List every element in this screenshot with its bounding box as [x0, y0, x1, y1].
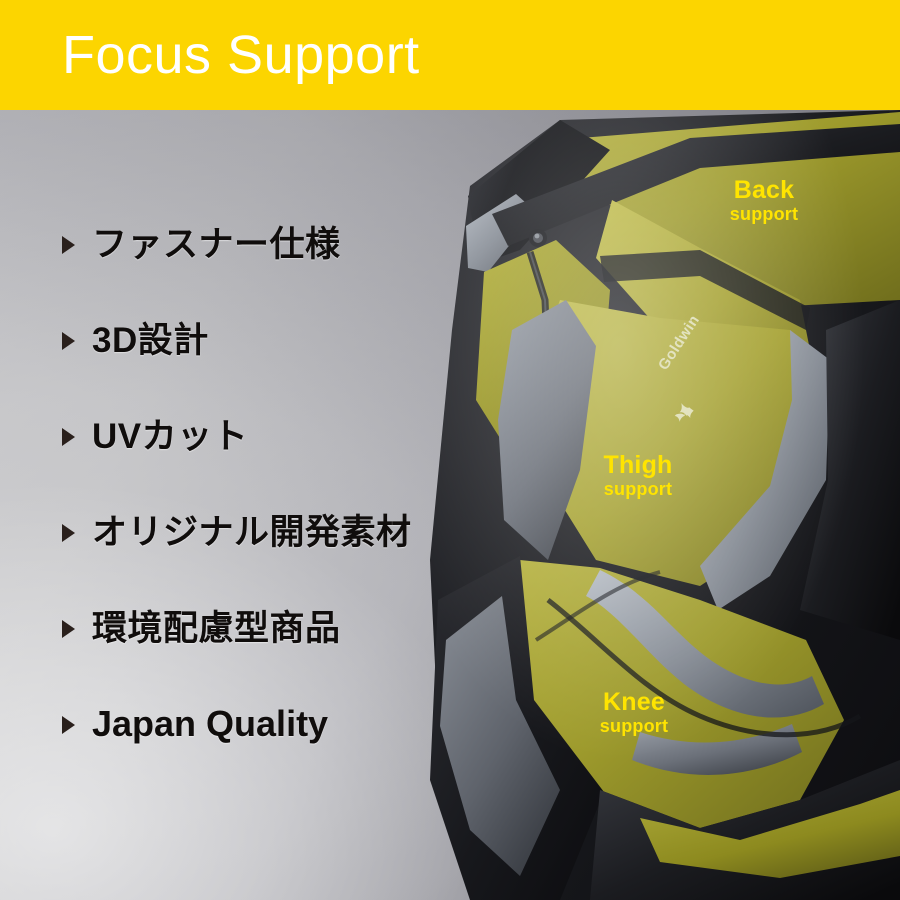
feature-label-5: 環境配慮型商品: [92, 611, 341, 646]
callout-back-subtitle: support: [716, 205, 812, 223]
feature-label-6: Japan Quality: [92, 706, 328, 742]
triangle-right-icon: [62, 428, 75, 446]
feature-label-2: 3D設計: [92, 323, 209, 358]
feature-label-4: オリジナル開発素材: [92, 515, 412, 550]
leaf-emblem-icon: [672, 400, 698, 426]
feature-item-4: オリジナル開発素材: [62, 484, 492, 580]
feature-item-1: ファスナー仕様: [62, 196, 492, 292]
feature-label-1: ファスナー仕様: [92, 227, 341, 262]
triangle-right-icon: [62, 524, 75, 542]
feature-item-5: 環境配慮型商品: [62, 580, 492, 676]
triangle-right-icon: [62, 620, 75, 638]
callout-thigh-support: Thigh support: [588, 453, 688, 498]
feature-label-3: UVカット: [92, 419, 248, 454]
callout-knee-support: Knee support: [586, 690, 682, 735]
triangle-right-icon: [62, 236, 75, 254]
product-feature-poster: Goldwin Back support Thigh support Knee …: [0, 0, 900, 900]
callout-knee-title: Knee: [586, 690, 682, 715]
triangle-right-icon: [62, 332, 75, 350]
triangle-right-icon: [62, 716, 75, 734]
page-title: Focus Support: [62, 28, 420, 82]
feature-item-2: 3D設計: [62, 292, 492, 388]
callout-back-support: Back support: [716, 178, 812, 223]
feature-list: ファスナー仕様 3D設計 UVカット オリジナル開発素材 環境配慮型商品 Jap…: [62, 196, 492, 772]
feature-item-3: UVカット: [62, 388, 492, 484]
callout-thigh-title: Thigh: [588, 453, 688, 478]
callout-thigh-subtitle: support: [588, 480, 688, 498]
feature-item-6: Japan Quality: [62, 676, 492, 772]
callout-back-title: Back: [716, 178, 812, 203]
header-banner: Focus Support: [0, 0, 900, 110]
callout-knee-subtitle: support: [586, 717, 682, 735]
